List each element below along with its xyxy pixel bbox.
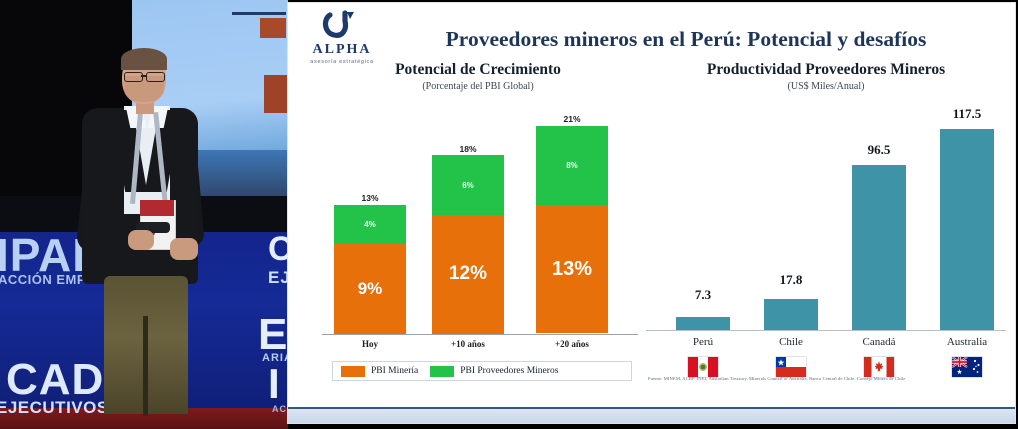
growth-seg-mining: 13% [536, 205, 608, 334]
backdrop-i-fragment: I [268, 360, 281, 408]
growth-category-label: +10 años [432, 339, 504, 349]
growth-seg-suppliers: 6% [432, 155, 504, 214]
productivity-chart-subtitle: (US$ Miles/Anual) [640, 81, 1012, 92]
growth-total-label: 18% [432, 144, 504, 154]
peru-flag-icon [688, 357, 718, 377]
growth-chart-baseline [322, 334, 638, 336]
australia-flag [932, 357, 1002, 377]
backdrop-c-fragment: C [268, 230, 288, 269]
productivity-category-label: Canadá [844, 336, 914, 348]
productivity-bar-peru [676, 317, 730, 330]
presenter-hair [121, 48, 167, 70]
productivity-value-label: 17.8 [756, 272, 826, 288]
growth-bar-20-anos: 8% 13% [536, 126, 608, 334]
conference-badge-header [140, 200, 174, 216]
growth-bar-10-anos: 6% 12% [432, 155, 504, 333]
legend-item-mining: PBI Minería [341, 366, 418, 377]
productivity-chart-plot: 7.3 Perú 17.8 [646, 105, 1006, 331]
legend-swatch-mining [341, 366, 365, 377]
growth-total-label: 21% [536, 114, 608, 124]
legend-item-suppliers: PBI Proveedores Mineros [430, 366, 558, 377]
growth-category-label: +20 años [536, 339, 608, 349]
productivity-chart-baseline [646, 330, 1006, 332]
growth-chart-plot: 13% 4% 9% Hoy 18% 6% 1 [322, 105, 638, 335]
legend-label-mining: PBI Minería [371, 366, 418, 376]
backdrop-accent-mid [264, 75, 288, 113]
eyeglasses-left-lens [124, 72, 143, 82]
growth-seg-suppliers: 8% [536, 126, 608, 205]
productivity-category-label: Australia [932, 336, 1002, 348]
canada-flag [844, 357, 914, 377]
chile-flag-icon [776, 357, 806, 377]
chile-flag [756, 357, 826, 377]
growth-seg-mining-label: 13% [552, 258, 592, 281]
growth-potential-chart: Potencial de Crecimiento (Porcentaje del… [308, 61, 648, 401]
growth-seg-suppliers-label: 4% [364, 220, 376, 229]
productivity-category-label: Perú [668, 336, 738, 348]
productivity-value-label: 117.5 [932, 106, 1002, 122]
productivity-chart: Productividad Proveedores Mineros (US$ M… [640, 61, 1012, 401]
legend-swatch-suppliers [430, 366, 454, 377]
productivity-value-label: 96.5 [844, 142, 914, 158]
screen: C IPAE ACCIÓN EMPRESARIAL EJ E ARIAL CAD… [0, 0, 1018, 429]
growth-chart-legend: PBI Minería PBI Proveedores Mineros [332, 361, 632, 381]
alpha-logo-icon [321, 9, 363, 43]
growth-seg-suppliers: 4% [334, 205, 406, 245]
productivity-chart-title: Productividad Proveedores Mineros [640, 61, 1012, 79]
backdrop-ej-fragment: EJ [268, 268, 288, 288]
presentation-slide[interactable]: ALPHA asesoría estratégica Proveedores m… [288, 3, 1015, 423]
growth-bar-hoy: 4% 9% [334, 205, 406, 334]
eyeglasses-bridge [141, 75, 146, 77]
presenter-leg-gap [143, 316, 148, 416]
canada-flag-icon [864, 357, 894, 377]
productivity-value-label: 7.3 [668, 287, 738, 303]
backdrop-accent-top [260, 18, 286, 38]
presenter-hand-right [170, 238, 198, 260]
growth-seg-mining-label: 12% [449, 263, 487, 285]
presenter-video[interactable]: C IPAE ACCIÓN EMPRESARIAL EJ E ARIAL CAD… [0, 0, 288, 429]
growth-seg-suppliers-label: 6% [462, 181, 474, 190]
growth-chart-title: Potencial de Crecimiento [308, 61, 648, 79]
productivity-bar-australia [940, 129, 994, 330]
screen-frame-line [232, 12, 286, 15]
growth-chart-subtitle: (Porcentaje del PBI Global) [308, 81, 648, 92]
australia-flag-icon [952, 357, 982, 377]
productivity-bar-canada [852, 165, 906, 330]
slide-title: Proveedores mineros en el Perú: Potencia… [366, 27, 1006, 52]
growth-seg-mining: 9% [334, 244, 406, 333]
legend-label-suppliers: PBI Proveedores Mineros [460, 366, 558, 376]
growth-seg-mining-label: 9% [358, 279, 383, 299]
growth-seg-suppliers-label: 8% [566, 161, 578, 170]
productivity-bar-chile [764, 299, 818, 330]
growth-seg-mining: 12% [432, 215, 504, 334]
growth-total-label: 13% [334, 193, 406, 203]
growth-category-label: Hoy [334, 339, 406, 349]
chart-source-note: Fuente: MINEM, ACRP, INEI, Australian Tr… [648, 376, 1015, 381]
eyeglasses-right-lens [146, 72, 165, 82]
presenter-hand-left [128, 230, 154, 250]
slide-footer-band [288, 409, 1015, 423]
productivity-category-label: Chile [756, 336, 826, 348]
backdrop-ejecutivos-text: EJECUTIVOS [0, 398, 109, 418]
peru-flag [668, 357, 738, 377]
backdrop-a-fragment: AC [272, 404, 287, 414]
